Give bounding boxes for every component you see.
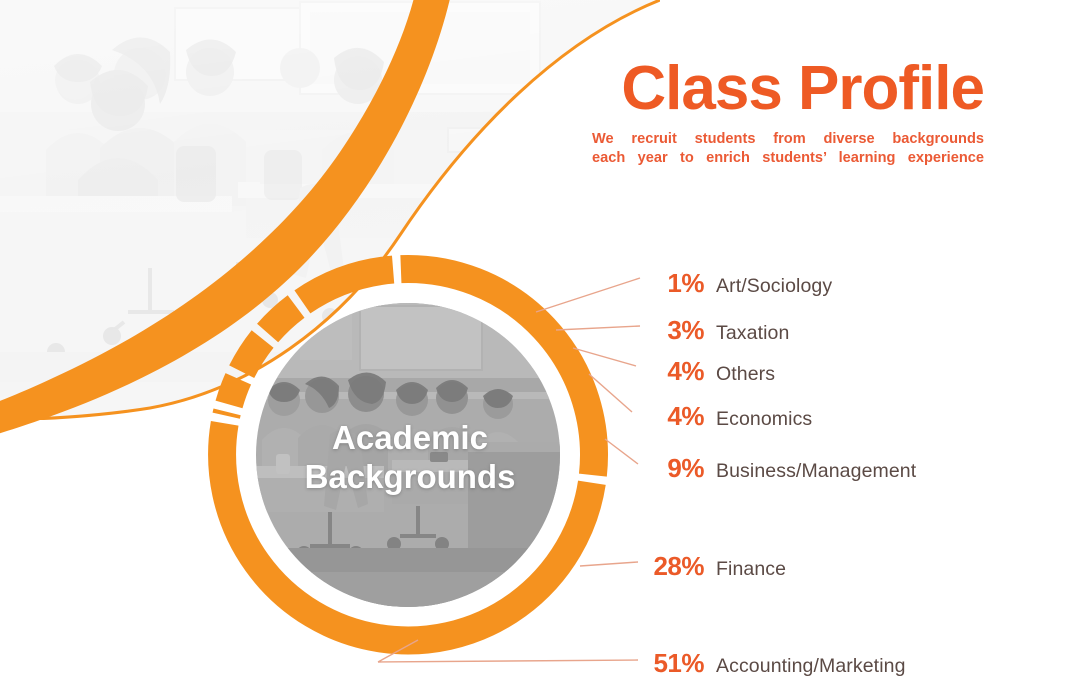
legend-row-business-management[interactable]: 9% Business/Management xyxy=(632,453,916,484)
subtitle-line-2: each year to enrich students’ learning e… xyxy=(592,149,984,168)
legend-pct-economics: 4% xyxy=(632,401,704,432)
class-profile-poster: Class Profile We recruit students from d… xyxy=(0,0,1071,696)
legend-label-finance: Finance xyxy=(716,558,786,581)
legend-pct-others: 4% xyxy=(632,356,704,387)
legend-pct-finance: 28% xyxy=(632,551,704,582)
donut-center-photo xyxy=(256,303,560,608)
legend-pct-accounting-marketing: 51% xyxy=(632,648,704,679)
legend-row-economics[interactable]: 4% Economics xyxy=(632,401,812,432)
legend-row-others[interactable]: 4% Others xyxy=(632,356,775,387)
legend-label-economics: Economics xyxy=(716,408,812,431)
segment-economics[interactable] xyxy=(268,307,297,334)
legend-label-others: Others xyxy=(716,363,775,386)
page-title: Class Profile xyxy=(592,58,984,120)
legend-pct-taxation: 3% xyxy=(632,315,704,346)
legend-label-taxation: Taxation xyxy=(716,322,789,345)
legend-label-business-management: Business/Management xyxy=(716,460,916,483)
segment-taxation[interactable] xyxy=(229,379,238,405)
academic-backgrounds-donut-chart: Academic Backgrounds xyxy=(180,228,640,688)
legend-label-art-sociology: Art/Sociology xyxy=(716,275,832,298)
segment-others[interactable] xyxy=(242,339,263,372)
legend-row-accounting-marketing[interactable]: 51% Accounting/Marketing xyxy=(632,648,906,679)
legend-row-art-sociology[interactable]: 1% Art/Sociology xyxy=(632,268,832,299)
legend-label-accounting-marketing: Accounting/Marketing xyxy=(716,655,906,678)
subtitle-line-1: We recruit students from diverse backgro… xyxy=(592,130,984,149)
legend-row-taxation[interactable]: 3% Taxation xyxy=(632,315,789,346)
header-block: Class Profile We recruit students from d… xyxy=(592,58,984,167)
legend-pct-art-sociology: 1% xyxy=(632,268,704,299)
donut-svg xyxy=(180,228,640,688)
page-subtitle: We recruit students from diverse backgro… xyxy=(592,130,984,167)
segment-business-management[interactable] xyxy=(302,270,393,302)
legend-pct-business-management: 9% xyxy=(632,453,704,484)
segment-art-sociology[interactable] xyxy=(226,412,227,416)
legend-row-finance[interactable]: 28% Finance xyxy=(632,551,786,582)
